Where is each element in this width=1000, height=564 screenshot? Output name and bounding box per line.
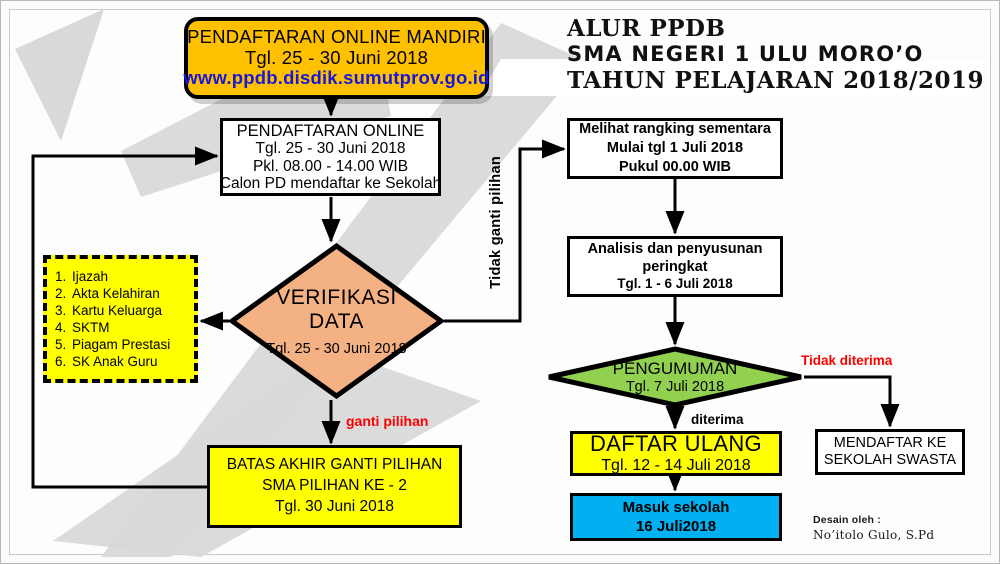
list-item-label: SKTM	[72, 319, 110, 336]
list-item: 6.SK Anak Guru	[55, 353, 158, 370]
node-line: Tgl. 1 - 6 Juli 2018	[617, 276, 733, 293]
edge-label-tidak-ganti-pilihan: Tidak ganti pilihan	[488, 156, 504, 289]
node-pendaftaran-online-mandiri[interactable]: PENDAFTARAN ONLINE MANDIRI Tgl. 25 - 30 …	[184, 17, 489, 99]
list-item-number: 6.	[55, 353, 72, 370]
list-item: 4.SKTM	[55, 319, 110, 336]
node-line: Analisis dan penyusunan	[588, 240, 763, 258]
node-line: 16 Juli2018	[636, 517, 716, 537]
arrow-verifikasi-to-rangking	[444, 149, 564, 321]
node-line: DATA	[309, 310, 364, 334]
node-line: SMA PILIHAN KE - 2	[262, 476, 407, 497]
arrow-pengumuman-to-swasta	[804, 377, 890, 426]
title-line-1: ALUR PPDB	[567, 15, 984, 42]
list-item-number: 3.	[55, 302, 72, 319]
node-line: Tgl. 25 - 30 Juni 2018	[266, 341, 406, 357]
node-line: SEKOLAH SWASTA	[824, 452, 956, 469]
node-line: PENDAFTARAN ONLINE	[237, 122, 425, 140]
list-item-label: Ijazah	[72, 268, 108, 285]
node-line: Masuk sekolah	[623, 498, 730, 518]
list-item-number: 1.	[55, 268, 72, 285]
node-required-documents[interactable]: 1.Ijazah 2.Akta Kelahiran 3.Kartu Keluar…	[43, 255, 198, 383]
node-line: Melihat rangking sementara	[579, 120, 771, 139]
node-analisis-penyusunan-peringkat[interactable]: Analisis dan penyusunan peringkat Tgl. 1…	[567, 236, 783, 297]
node-line: peringkat	[642, 258, 707, 276]
list-item-number: 5.	[55, 336, 72, 353]
list-item: 5.Piagam Prestasi	[55, 336, 170, 353]
edge-label-ganti-pilihan: ganti pilihan	[346, 413, 428, 429]
node-batas-akhir-ganti-pilihan[interactable]: BATAS AKHIR GANTI PILIHAN SMA PILIHAN KE…	[207, 445, 462, 528]
node-line: Tgl. 7 Juli 2018	[626, 379, 724, 395]
node-line: DAFTAR ULANG	[590, 432, 762, 457]
node-line: VERIFIKASI	[276, 286, 397, 310]
node-line: PENGUMUMAN	[613, 359, 738, 379]
node-line: Calon PD mendaftar ke Sekolah	[220, 175, 441, 192]
list-item-label: Akta Kelahiran	[72, 285, 160, 302]
list-item-label: Kartu Keluarga	[72, 302, 162, 319]
list-item: 3.Kartu Keluarga	[55, 302, 162, 319]
edge-label-diterima: diterima	[691, 412, 744, 427]
node-line: Pkl. 08.00 - 14.00 WIB	[253, 158, 408, 175]
designer-credit: Desain oleh : No’itolo Gulo, S.Pd	[813, 514, 934, 542]
node-line: BATAS AKHIR GANTI PILIHAN	[227, 455, 443, 476]
node-pendaftaran-online[interactable]: PENDAFTARAN ONLINE Tgl. 25 - 30 Juni 201…	[220, 118, 441, 196]
node-line: PENDAFTARAN ONLINE MANDIRI	[187, 27, 486, 48]
node-mendaftar-sekolah-swasta[interactable]: MENDAFTAR KE SEKOLAH SWASTA	[815, 429, 965, 475]
node-line: Tgl. 25 - 30 Juni 2018	[256, 140, 406, 157]
node-line: Tgl. 12 - 14 Juli 2018	[601, 457, 750, 475]
node-line: MENDAFTAR KE	[834, 435, 947, 452]
title-line-3: TAHUN PELAJARAN 2018/2019	[567, 67, 984, 94]
list-item-number: 4.	[55, 319, 72, 336]
list-item-label: Piagam Prestasi	[72, 336, 170, 353]
flowchart-page: ALUR PPDB SMA NEGERI 1 ULU MORO’O TAHUN …	[0, 0, 1000, 564]
node-line: Pukul 00.00 WIB	[619, 158, 731, 177]
credit-name: No’itolo Gulo, S.Pd	[813, 528, 934, 542]
ppdb-url-link[interactable]: www.ppdb.disdik.sumutprov.go.id	[183, 68, 489, 89]
node-line: Mulai tgl 1 Juli 2018	[607, 139, 743, 158]
node-masuk-sekolah[interactable]: Masuk sekolah 16 Juli2018	[570, 493, 782, 541]
list-item-label: SK Anak Guru	[72, 353, 158, 370]
node-daftar-ulang[interactable]: DAFTAR ULANG Tgl. 12 - 14 Juli 2018	[570, 431, 782, 476]
list-item: 1.Ijazah	[55, 268, 108, 285]
page-title: ALUR PPDB SMA NEGERI 1 ULU MORO’O TAHUN …	[567, 15, 984, 94]
list-item-number: 2.	[55, 285, 72, 302]
node-line: Tgl. 30 Juni 2018	[275, 497, 394, 518]
node-pengumuman[interactable]: PENGUMUMAN Tgl. 7 Juli 2018	[546, 346, 804, 408]
node-melihat-rangking-sementara[interactable]: Melihat rangking sementara Mulai tgl 1 J…	[567, 118, 783, 179]
node-line: Tgl. 25 - 30 Juni 2018	[245, 48, 428, 69]
node-verifikasi-data[interactable]: VERIFIKASI DATA Tgl. 25 - 30 Juni 2018	[229, 243, 444, 399]
edge-label-tidak-diterima: Tidak diterima	[801, 353, 892, 368]
title-line-2: SMA NEGERI 1 ULU MORO’O	[567, 42, 984, 67]
credit-label: Desain oleh :	[813, 514, 934, 526]
list-item: 2.Akta Kelahiran	[55, 285, 160, 302]
